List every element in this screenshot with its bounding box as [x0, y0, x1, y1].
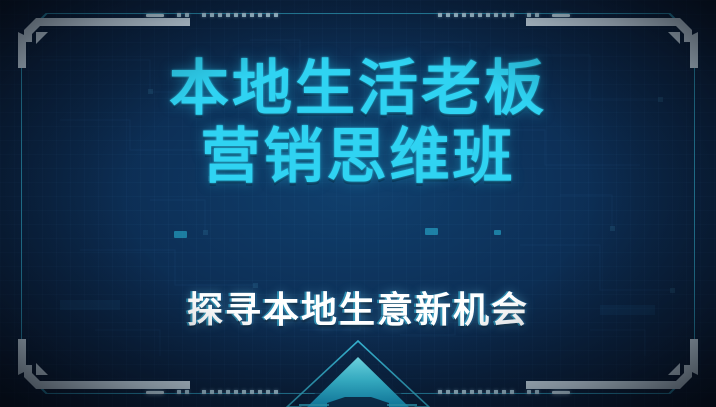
poster-canvas: 本地生活老板 营销思维班 探寻本地生意新机会	[0, 0, 716, 407]
background-circuit-texture	[0, 0, 716, 407]
